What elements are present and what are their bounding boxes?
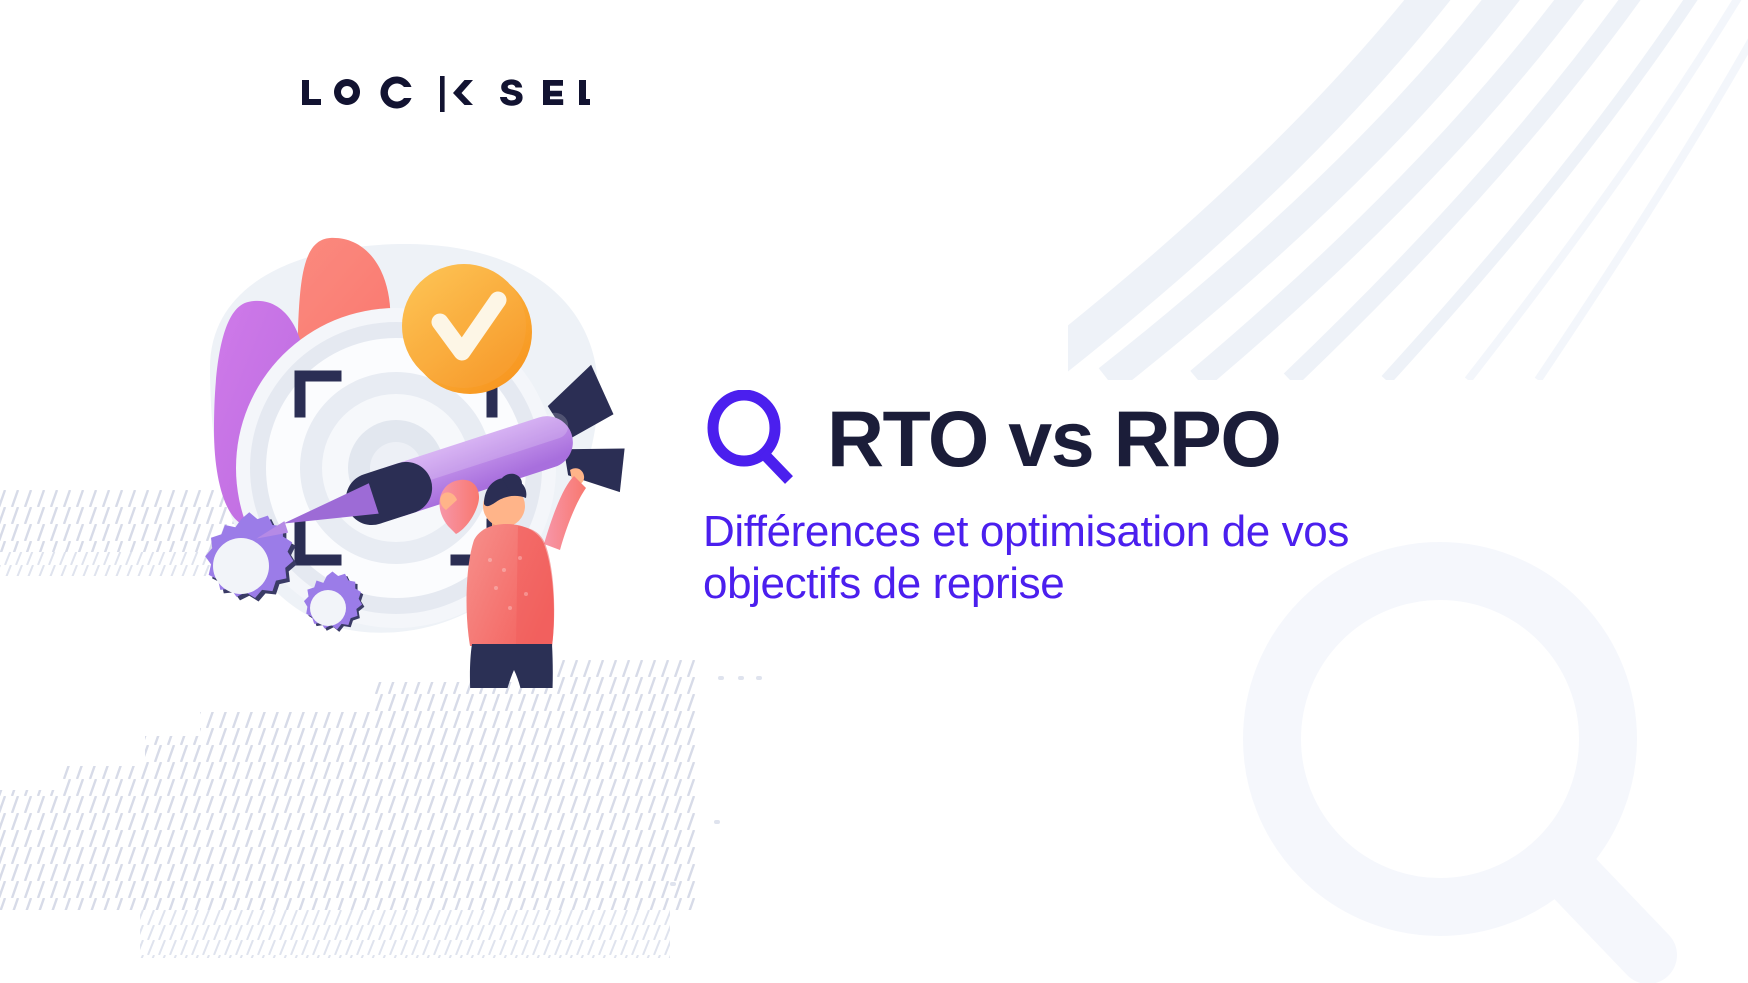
background-arcs-decoration [1068,0,1748,380]
target-dart-illustration [148,218,648,688]
page-title: RTO vs RPO [827,399,1280,478]
banner-canvas: RTO vs RPO Différences et optimisation d… [0,0,1748,983]
magnifier-icon [703,390,799,486]
title-row: RTO vs RPO [703,392,1503,484]
lockself-logo[interactable] [300,72,590,116]
page-subtitle: Différences et optimisation de vos objec… [703,506,1393,610]
headline-block: RTO vs RPO Différences et optimisation d… [703,392,1503,610]
